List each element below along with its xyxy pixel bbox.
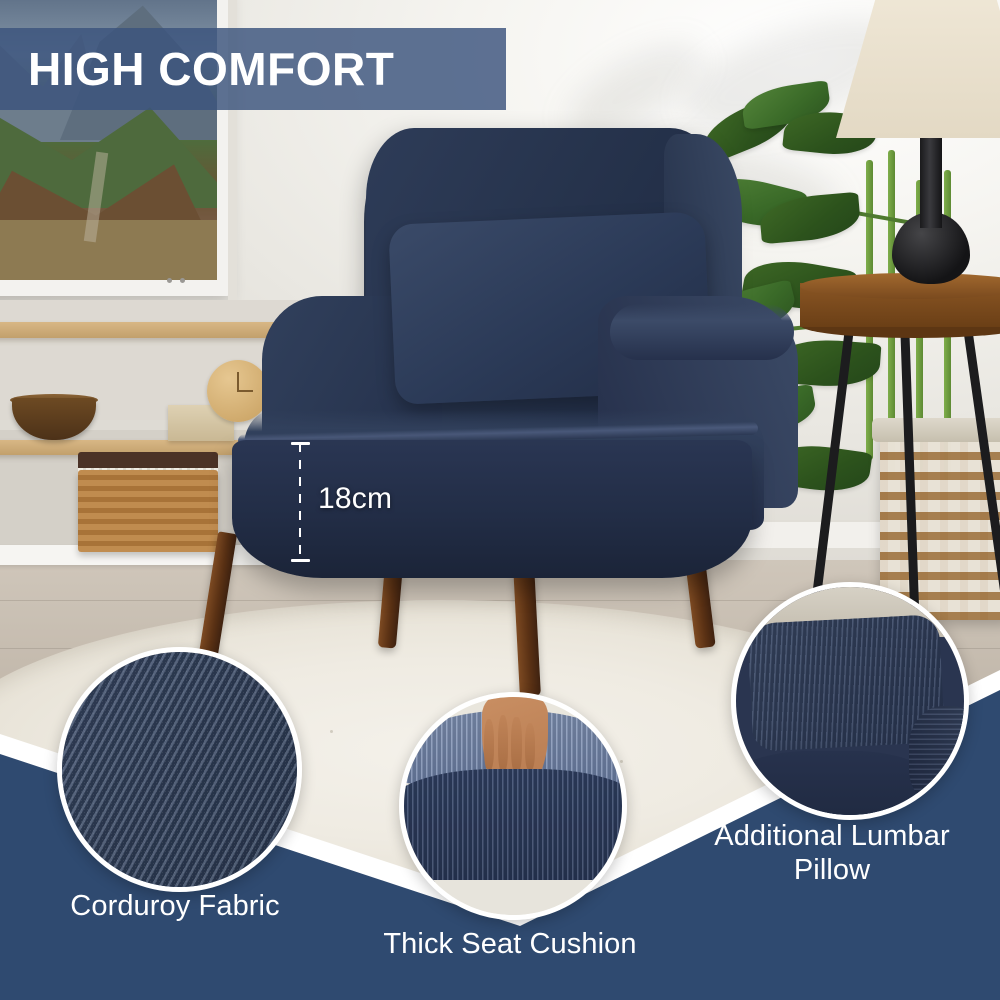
seat-cushion-photo [404,697,622,915]
caption-line-1: Additional Lumbar [672,820,992,854]
caption-line-2: Pillow [672,854,992,888]
chair-base-skirt [232,440,752,578]
caption-corduroy-fabric: Corduroy Fabric [10,890,340,924]
feature-image-thick-seat-cushion [399,692,627,920]
caption-thick-seat-cushion: Thick Seat Cushion [345,928,675,962]
caption-additional-lumbar-pillow: Additional Lumbar Pillow [672,820,992,887]
headline-banner: HIGH COMFORT [0,28,506,110]
lamp-neck [920,136,942,228]
feature-image-corduroy-fabric [57,647,302,892]
product-marketing-image: 18cm HIGH COMFORT [0,0,1000,1000]
feature-image-lumbar-pillow [731,582,969,820]
dimension-cap-bottom [291,559,310,562]
chair-arm-roll [610,304,794,360]
accent-chair [178,128,778,688]
dimension-dashed-line [299,443,301,561]
headline-text: HIGH COMFORT [0,46,394,92]
dimension-label: 18cm [318,482,392,516]
chair-leg-front-left [198,531,237,662]
lumbar-pillow-photo [736,587,964,815]
